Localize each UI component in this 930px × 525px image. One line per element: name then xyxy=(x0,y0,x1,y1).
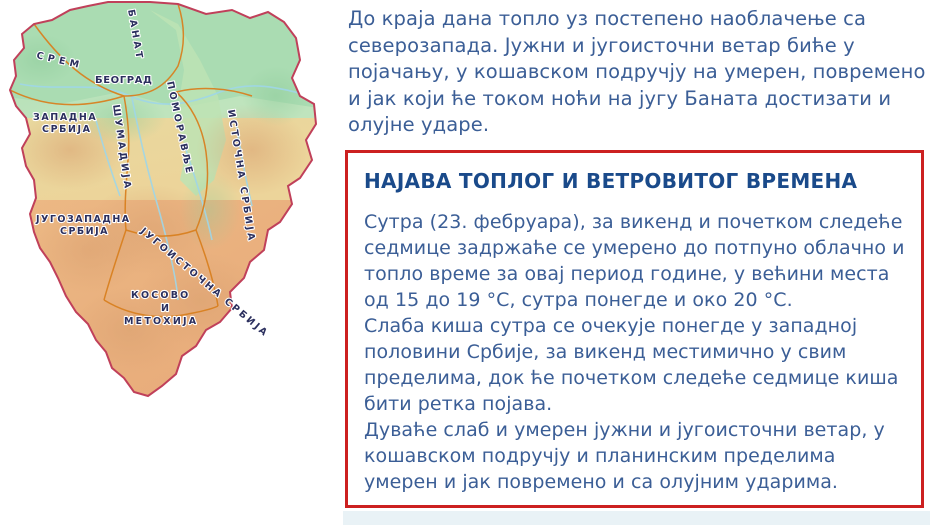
notice-title: НАЈАВА ТОПЛОГ И ВЕТРОВИТОГ ВРЕМЕНА xyxy=(364,169,905,193)
map-label-kosovo-line2: И xyxy=(161,303,171,314)
warning-notice-box: НАЈАВА ТОПЛОГ И ВЕТРОВИТОГ ВРЕМЕНА Сутра… xyxy=(345,150,924,508)
map-label-beograd: БЕОГРАД xyxy=(95,75,153,86)
map-label-zapadna-srbija-line2: СРБИЈА xyxy=(42,124,92,135)
notice-paragraph-temperature: Сутра (23. фебруара), за викенд и почетк… xyxy=(364,209,905,313)
map-label-kosovo-line1: КОСОВО xyxy=(131,290,190,301)
map-label-zapadna-srbija-line1: ЗАПАДНА xyxy=(33,112,97,123)
notice-paragraph-wind: Дуваће слаб и умерен јужни и југоисточни… xyxy=(364,417,905,495)
serbia-relief-map: БАНАТ СРЕМ БЕОГРАД ЗАПАДНА СРБИЈА ШУМАДИ… xyxy=(0,0,332,410)
weather-forecast-page: БАНАТ СРЕМ БЕОГРАД ЗАПАДНА СРБИЈА ШУМАДИ… xyxy=(0,0,930,525)
map-label-jugozapadna-srbija-line1: ЈУГОЗАПАДНА xyxy=(35,214,131,225)
bottom-accent-strip xyxy=(343,511,930,525)
forecast-text-column: До краја дана топло уз постепено наоблач… xyxy=(343,0,930,525)
map-label-jugozapadna-srbija-line2: СРБИЈА xyxy=(60,226,109,237)
notice-paragraph-rain: Слаба киша сутра се очекује понегде у за… xyxy=(364,313,905,417)
map-label-kosovo-line3: МЕТОХИЈА xyxy=(124,316,198,327)
intro-paragraph: До краја дана топло уз постепено наоблач… xyxy=(343,0,930,139)
map-graphic: БАНАТ СРЕМ БЕОГРАД ЗАПАДНА СРБИЈА ШУМАДИ… xyxy=(0,0,332,410)
